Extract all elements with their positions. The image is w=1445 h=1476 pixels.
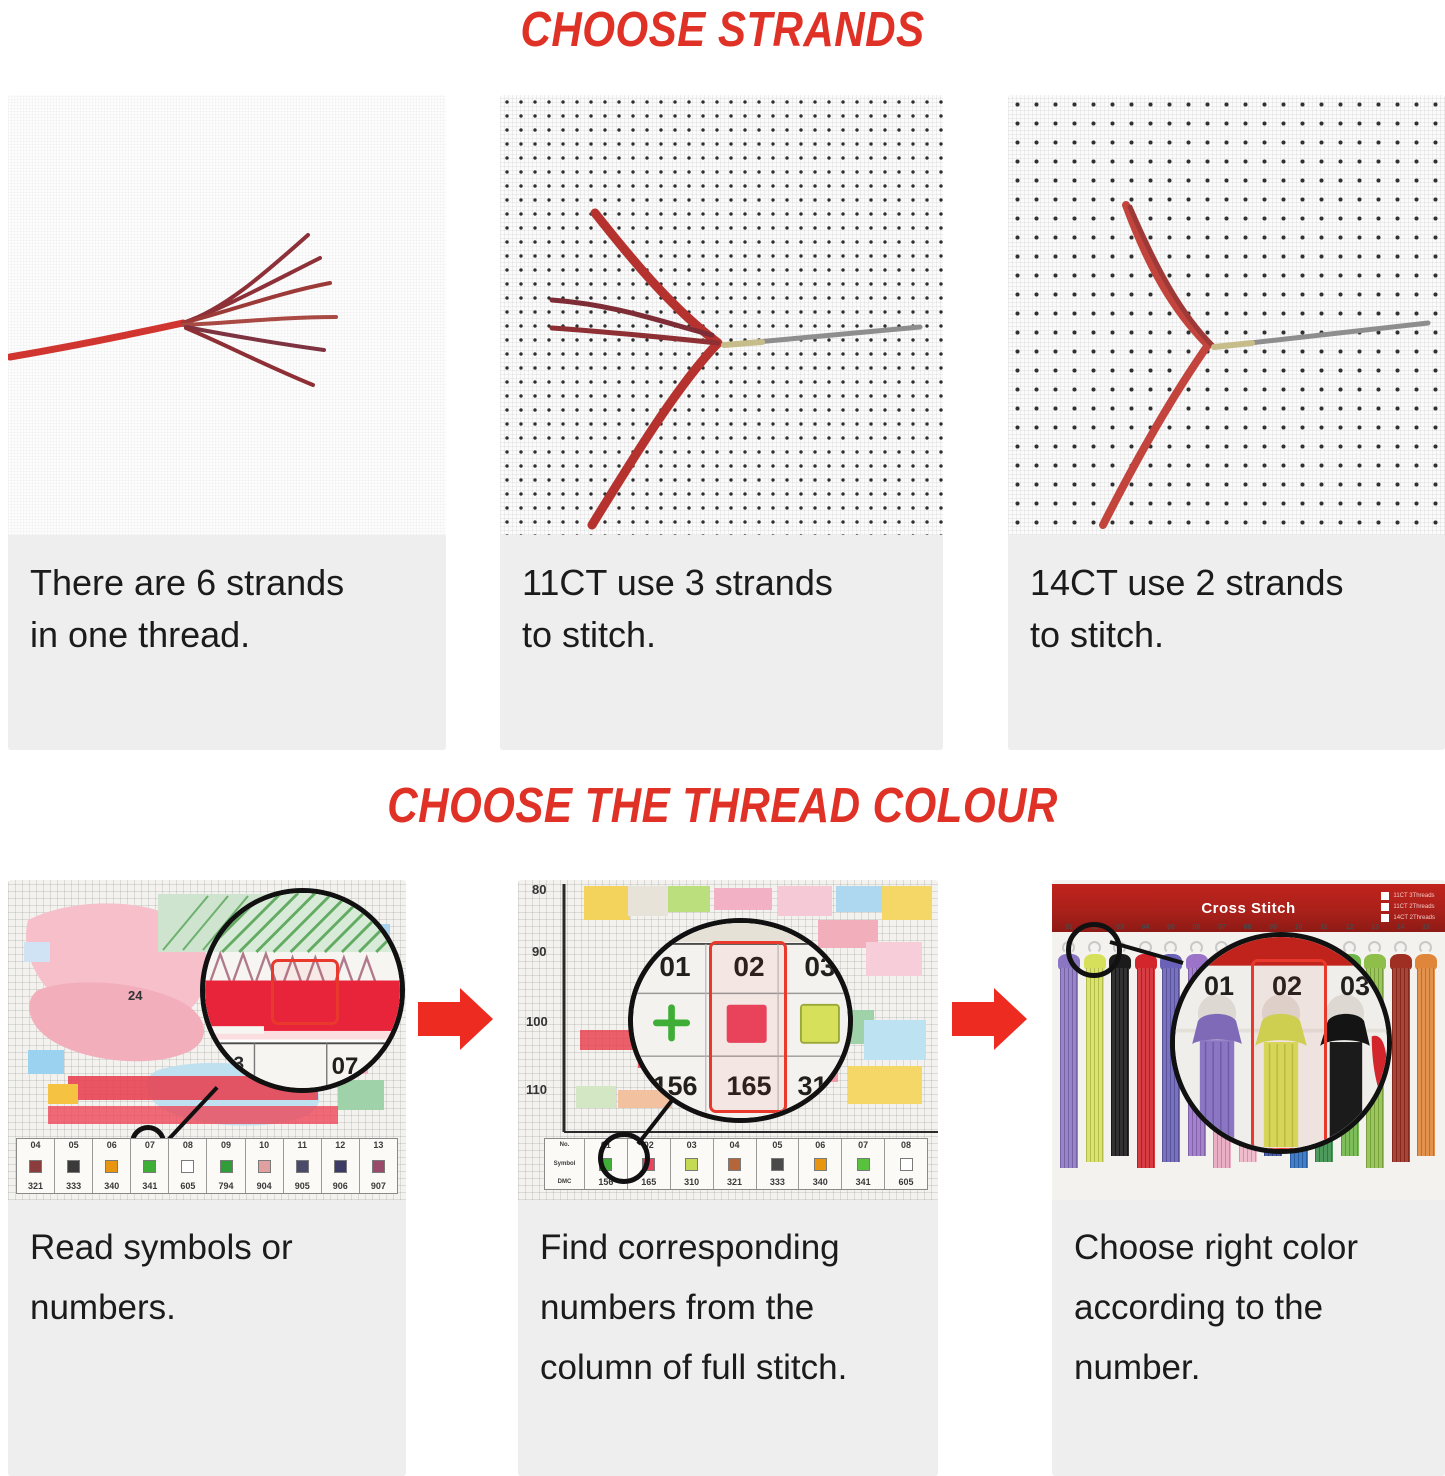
magnifier-column-label: 03 [787,951,853,983]
strands-panel-row: There are 6 strands in one thread. [0,95,1445,750]
legend-dmc-code: 340 [813,1177,828,1188]
legend-column: 07341 [842,1139,885,1189]
legend-number: 06 [107,1140,117,1151]
legend-symbol-swatch [685,1158,698,1171]
highlight-box-thread-02 [1251,959,1327,1151]
legend-number: 08 [183,1140,193,1151]
legend-number: 05 [772,1140,782,1151]
legend-column: 06340 [799,1139,842,1189]
panel-read-symbols: 24 02 [8,880,406,1476]
thread-skein-number: 09 [1262,924,1284,931]
caption-line: Choose right color [1074,1218,1435,1278]
caption-line: 11CT use 3 strands [522,557,923,609]
thread-skein-number: 14 [1390,924,1412,931]
legend-dmc-code: 794 [219,1181,234,1192]
skein-strands [1111,968,1129,1156]
legend-column: 11905 [284,1139,322,1193]
legend-column: 09794 [207,1139,245,1193]
legend-dmc-code: 905 [295,1181,310,1192]
legend-symbol-swatch [771,1158,784,1171]
legend-symbol-swatch [181,1160,194,1173]
caption-line: Read symbols or [30,1218,396,1278]
highlight-box-column-02 [709,941,787,1113]
caption-line: column of full stitch. [540,1338,928,1398]
ct-option: 11CT 3Threads [1381,892,1435,900]
legend-dmc-code: 906 [333,1181,348,1192]
legend-dmc-code: 605 [899,1177,914,1188]
caption-line: to stitch. [1030,609,1425,661]
thread-skein-number: 04 [1135,924,1157,931]
legend-number: 04 [31,1140,41,1151]
legend-column: 08605 [169,1139,207,1193]
magnifier-lens-legend: 01 02 03 156 165 310 [628,918,853,1123]
caption-six-strands: There are 6 strands in one thread. [8,535,446,750]
caption-line: numbers from the [540,1278,928,1338]
caption-line: 14CT use 2 strands [1030,557,1425,609]
caption-line: Find corresponding [540,1218,928,1278]
legend-column: 06340 [93,1139,131,1193]
infographic-page: CHOOSE STRANDS [0,0,1445,1476]
thread-skein-number: 12 [1339,924,1361,931]
legend-dmc-code: 341 [142,1181,157,1192]
legend-column: 05333 [55,1139,93,1193]
legend-symbol-swatch [105,1160,118,1173]
legend-symbol-swatch [296,1160,309,1173]
legend-row-label: No. [560,1140,570,1151]
thread-skein-number: 15 [1415,924,1437,931]
photo-pattern-chart: 24 02 [8,880,406,1200]
ct-option: 11CT 2Threads [1381,903,1435,911]
legend-dmc-code: 333 [770,1177,785,1188]
legend-number: 10 [259,1140,269,1151]
panel-11ct: 11CT use 3 strands to stitch. [500,95,943,750]
thread-skein-number: 10 [1288,924,1310,931]
caption-line: to stitch. [522,609,923,661]
legend-symbol-swatch [372,1160,385,1173]
thread-skein-number: 06 [1186,924,1208,931]
panel-six-strands: There are 6 strands in one thread. [8,95,446,750]
legend-symbol-swatch [814,1158,827,1171]
legend-number: 12 [335,1140,345,1151]
arrow-head [460,988,493,1050]
svg-text:90: 90 [532,944,546,959]
legend-dmc-code: 165 [641,1177,656,1188]
legend-symbol-swatch [220,1160,233,1173]
photo-14ct-aida [1008,95,1445,535]
legend-dmc-code: 321 [727,1177,742,1188]
skein-hook-icon [1394,941,1407,954]
legend-column: 10904 [246,1139,284,1193]
legend-column: 12906 [322,1139,360,1193]
thread-card-ct-options: 11CT 3Threads11CT 2Threads14CT 2Threads [1381,892,1435,922]
caption-find-numbers: Find corresponding numbers from the colu… [518,1200,938,1476]
caption-read-symbols: Read symbols or numbers. [8,1200,406,1476]
panel-14ct: 14CT use 2 strands to stitch. [1008,95,1445,750]
arrow-head [994,988,1027,1050]
legend-column: 13907 [360,1139,397,1193]
photo-pattern-legend: 80 90 100 110 [518,880,938,1200]
legend-symbol-swatch [29,1160,42,1173]
magnifier-target-circle [1066,922,1122,978]
legend-dmc-code: 340 [104,1181,119,1192]
ct-option-label: 11CT 3Threads [1393,893,1434,899]
svg-text:110: 110 [526,1082,547,1097]
svg-text:100: 100 [526,1014,548,1029]
checkbox-icon [1381,914,1389,922]
thread-skein-number: 05 [1160,924,1182,931]
legend-symbol-swatch [334,1160,347,1173]
thread-and-needle-illustration [500,95,943,535]
thread-skein-number: 11 [1313,924,1335,931]
legend-number: 11 [297,1140,307,1151]
legend-number: 07 [858,1140,868,1151]
caption-choose-colour: Choose right color according to the numb… [1052,1200,1445,1476]
arrow-shaft [418,1002,462,1036]
legend-column: 05333 [757,1139,800,1189]
legend-number: 09 [221,1140,231,1151]
caption-line: number. [1074,1338,1435,1398]
thread-card-title: Cross Stitch [1201,900,1295,917]
legend-dmc-code: 907 [371,1181,386,1192]
legend-symbol-swatch [258,1160,271,1173]
six-strands-illustration [8,95,446,535]
legend-number: 07 [145,1140,155,1151]
legend-dmc-code: 310 [684,1177,699,1188]
magnifier-thread-label: 01 [1183,971,1255,1002]
caption-11ct: 11CT use 3 strands to stitch. [500,535,943,750]
svg-text:80: 80 [532,882,546,897]
thread-and-needle-illustration [1008,95,1445,535]
legend-symbol-swatch [857,1158,870,1171]
skein-strands [1086,968,1104,1162]
skein-hook-icon [1419,941,1432,954]
legend-number: 06 [815,1140,825,1151]
highlight-box-pattern-cell [271,959,339,1025]
legend-dmc-code: 333 [66,1181,81,1192]
magnifier-thread-label: 03 [1321,971,1389,1002]
legend-column: 07341 [131,1139,169,1193]
caption-line: in one thread. [30,609,426,661]
svg-text:24: 24 [128,988,143,1003]
photo-thread-card: Cross Stitch 11CT 3Threads11CT 2Threads1… [1052,880,1445,1200]
thread-skein-number: 07 [1211,924,1233,931]
legend-number: 05 [69,1140,79,1151]
svg-text:3: 3 [234,1054,245,1075]
panel-choose-colour: Cross Stitch 11CT 3Threads11CT 2Threads1… [1052,880,1445,1476]
legend-dmc-code: 321 [28,1181,43,1192]
magnifier-lens-pattern: 3 07 [200,888,405,1093]
section-heading-choose-strands: CHOOSE STRANDS [101,2,1344,58]
caption-line: according to the [1074,1278,1435,1338]
skein-strands [1392,968,1410,1162]
legend-symbol-swatch [900,1158,913,1171]
legend-table-panel4: 0432105333063400734108605097941090411905… [16,1138,398,1194]
legend-row-labels: No.SymbolDMC [545,1139,585,1189]
caption-line: numbers. [30,1278,396,1338]
legend-symbol-swatch [143,1160,156,1173]
photo-11ct-aida [500,95,943,535]
magnifier-label-07: 07 [315,1053,375,1081]
legend-symbol-swatch [728,1158,741,1171]
ct-option-label: 14CT 2Threads [1393,915,1435,921]
legend-row-label: DMC [558,1177,572,1188]
ct-option: 14CT 2Threads [1381,914,1435,922]
legend-number: 03 [687,1140,697,1151]
caption-14ct: 14CT use 2 strands to stitch. [1008,535,1445,750]
magnifier-code-label: 156 [639,1071,711,1102]
legend-dmc-code: 904 [257,1181,272,1192]
skein-strands [1137,968,1155,1168]
ct-option-label: 11CT 2Threads [1393,904,1434,910]
caption-line: There are 6 strands [30,557,426,609]
legend-symbol-swatch [67,1160,80,1173]
legend-column: 08605 [885,1139,927,1189]
section-heading-choose-the-thread-colour: CHOOSE THE THREAD COLOUR [101,778,1344,834]
photo-six-strands [8,95,446,535]
arrow-shaft [952,1002,996,1036]
legend-number: 04 [730,1140,740,1151]
magnifier-code-label: 310 [787,1071,853,1102]
legend-dmc-code: 605 [180,1181,195,1192]
magnifier-lens-threads: 01 02 03 [1170,932,1392,1154]
legend-number: 13 [373,1140,383,1151]
magnifier-column-label: 01 [639,951,711,983]
colour-panel-row: 24 02 [0,880,1445,1476]
thread-skein-number: 13 [1364,924,1386,931]
thread-skein-number: 08 [1237,924,1259,931]
legend-row-label: Symbol [554,1159,576,1170]
panel-find-numbers: 80 90 100 110 [518,880,938,1476]
skein-strands [1417,968,1435,1156]
legend-column: 03310 [671,1139,714,1189]
legend-column: 04321 [714,1139,757,1189]
checkbox-icon [1381,892,1389,900]
skein-strands [1060,968,1078,1168]
legend-column: 04321 [17,1139,55,1193]
checkbox-icon [1381,903,1389,911]
legend-dmc-code: 341 [856,1177,871,1188]
legend-number: 08 [901,1140,911,1151]
